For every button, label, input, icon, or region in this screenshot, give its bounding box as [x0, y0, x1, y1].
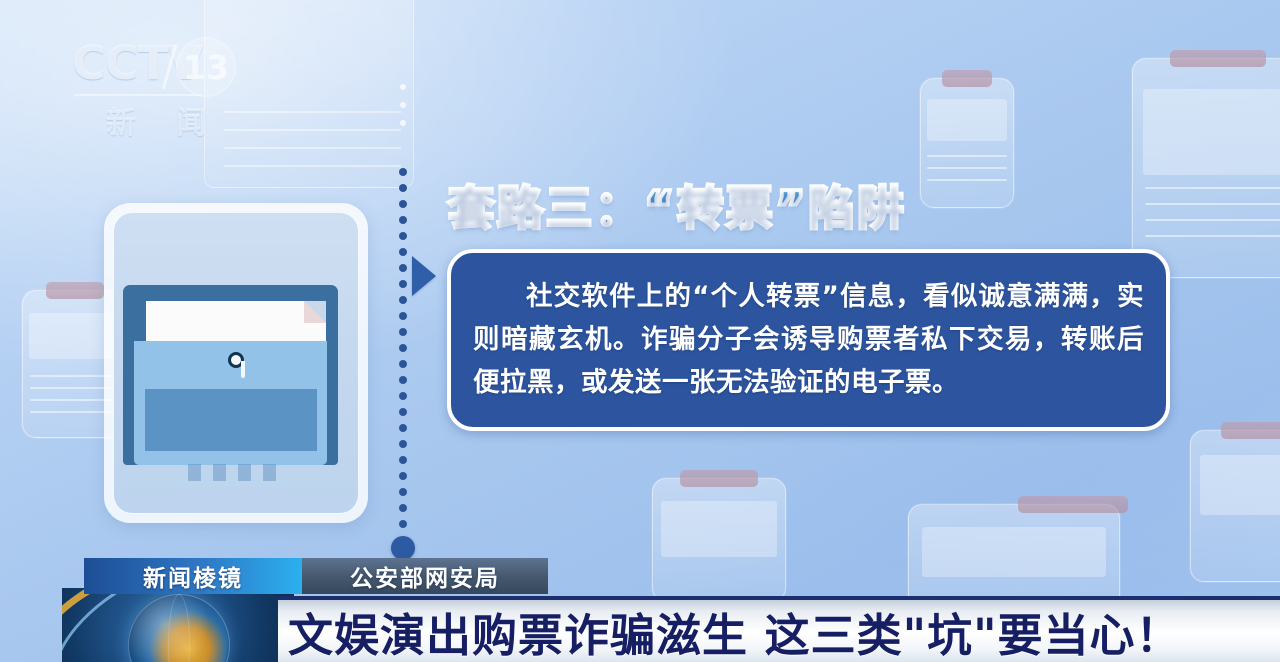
- logo-subtitle: 新 闻: [106, 98, 222, 142]
- program-tag: 新闻棱镜: [84, 558, 302, 594]
- headline-text: 文娱演出购票诈骗滋生 这三类"坑"要当心！: [278, 599, 1182, 662]
- slide-body-text: 社交软件上的“个人转票”信息，看似诚意满满，实则暗藏玄机。诈骗分子会诱导购票者私…: [451, 253, 1166, 404]
- lock-dial-icon: [226, 352, 246, 378]
- folder-label-band: [145, 389, 317, 451]
- deco-dots: [400, 84, 406, 138]
- timeline-end-dot: [391, 536, 415, 560]
- ticket-folder-illustration: [104, 203, 368, 523]
- slide-title: 套路三：“转票”陷阱: [448, 172, 906, 238]
- lower-third-tags: 新闻棱镜 公安部网安局: [84, 558, 548, 594]
- folder-square-row: [188, 464, 278, 481]
- pointer-triangle-icon: [412, 256, 436, 296]
- news-globe-graphic: [62, 588, 294, 662]
- deco-clipboard-bottom-c: [1190, 430, 1280, 582]
- logo-rule: [74, 94, 202, 96]
- deco-clipboard-top-a: [920, 78, 1014, 208]
- broadcast-frame: CCTV 13 新 闻 套路三：“转票”陷阱: [0, 0, 1280, 662]
- channel-number: 13: [176, 37, 236, 97]
- deco-clipboard-top-b: [1132, 58, 1280, 278]
- headline-band: 文娱演出购票诈骗滋生 这三类"坑"要当心！: [278, 596, 1280, 662]
- timeline-dotted-line: [398, 168, 408, 542]
- illustration-inner: [113, 212, 359, 514]
- source-tag: 公安部网安局: [302, 558, 548, 594]
- cctv13-watermark-logo: CCTV 13 新 闻: [72, 40, 262, 135]
- slide-text-panel: 社交软件上的“个人转票”信息，看似诚意满满，实则暗藏玄机。诈骗分子会诱导购票者私…: [447, 249, 1170, 431]
- deco-clipboard-bottom-a: [652, 478, 786, 602]
